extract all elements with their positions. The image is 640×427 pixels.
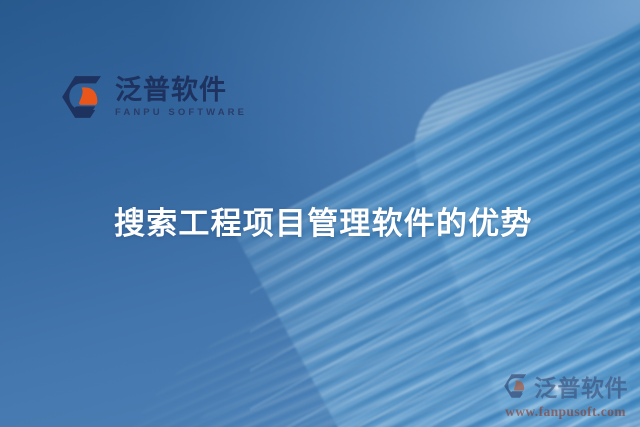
promotional-banner: 泛普软件 FANPU SOFTWARE 搜索工程项目管理软件的优势 泛普软件 w… (0, 0, 640, 427)
brand-logo: 泛普软件 FANPU SOFTWARE (60, 74, 247, 120)
fanpu-logo-icon (60, 74, 106, 120)
page-title: 搜索工程项目管理软件的优势 (114, 198, 533, 243)
lens-glint-icon (549, 380, 565, 396)
background-mullion-highlights (250, 230, 640, 427)
brand-name-cn: 泛普软件 (115, 77, 247, 104)
brand-name-en: FANPU SOFTWARE (115, 108, 247, 118)
brand-logo-text: 泛普软件 FANPU SOFTWARE (115, 77, 247, 118)
